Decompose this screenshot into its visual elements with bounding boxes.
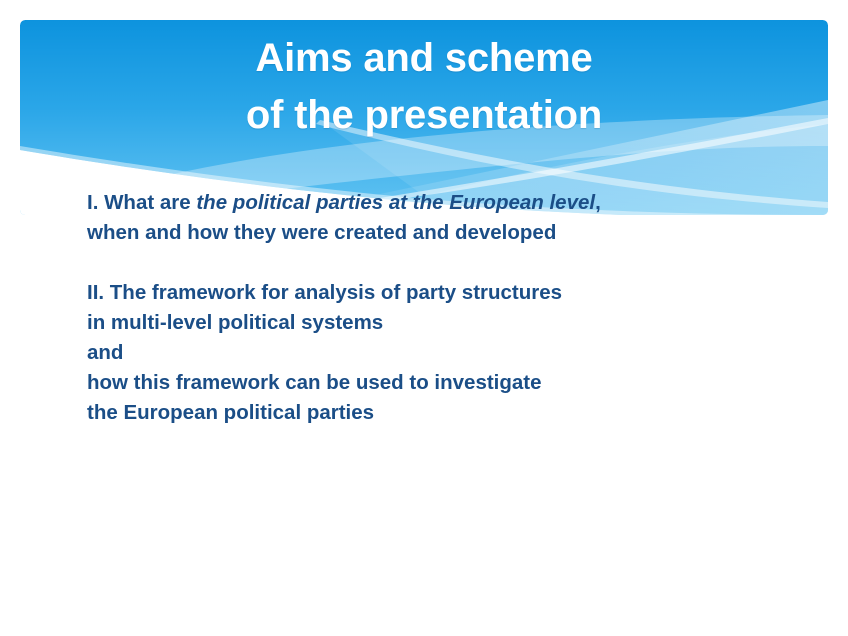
slide-header-banner bbox=[20, 20, 828, 215]
body-text-run: and bbox=[87, 341, 123, 364]
body-line: the European political parties bbox=[87, 398, 787, 428]
body-text-run: how this framework can be used to invest… bbox=[87, 371, 542, 394]
slide-body: I. What are the political parties at the… bbox=[87, 188, 787, 428]
body-line: I. What are the political parties at the… bbox=[87, 188, 787, 218]
header-wave-graphic bbox=[20, 20, 828, 215]
body-paragraph-aim-two: II. The framework for analysis of party … bbox=[87, 278, 787, 428]
body-text-run: , bbox=[595, 191, 601, 214]
body-line: how this framework can be used to invest… bbox=[87, 368, 787, 398]
body-line: and bbox=[87, 338, 787, 368]
body-line: in multi-level political systems bbox=[87, 308, 787, 338]
body-text-run: II. The framework for analysis of party … bbox=[87, 281, 562, 304]
body-text-run: in multi-level political systems bbox=[87, 311, 383, 334]
body-text-run: I. What are bbox=[87, 191, 196, 214]
body-paragraph-aim-one: I. What are the political parties at the… bbox=[87, 188, 787, 248]
body-line: II. The framework for analysis of party … bbox=[87, 278, 787, 308]
body-text-run: when and how they were created and devel… bbox=[87, 221, 556, 244]
presentation-slide: Aims and scheme of the presentation I. W… bbox=[0, 0, 848, 636]
body-text-run: the European political parties bbox=[87, 401, 374, 424]
body-line: when and how they were created and devel… bbox=[87, 218, 787, 248]
body-text-emphasis: the political parties at the European le… bbox=[196, 191, 595, 214]
